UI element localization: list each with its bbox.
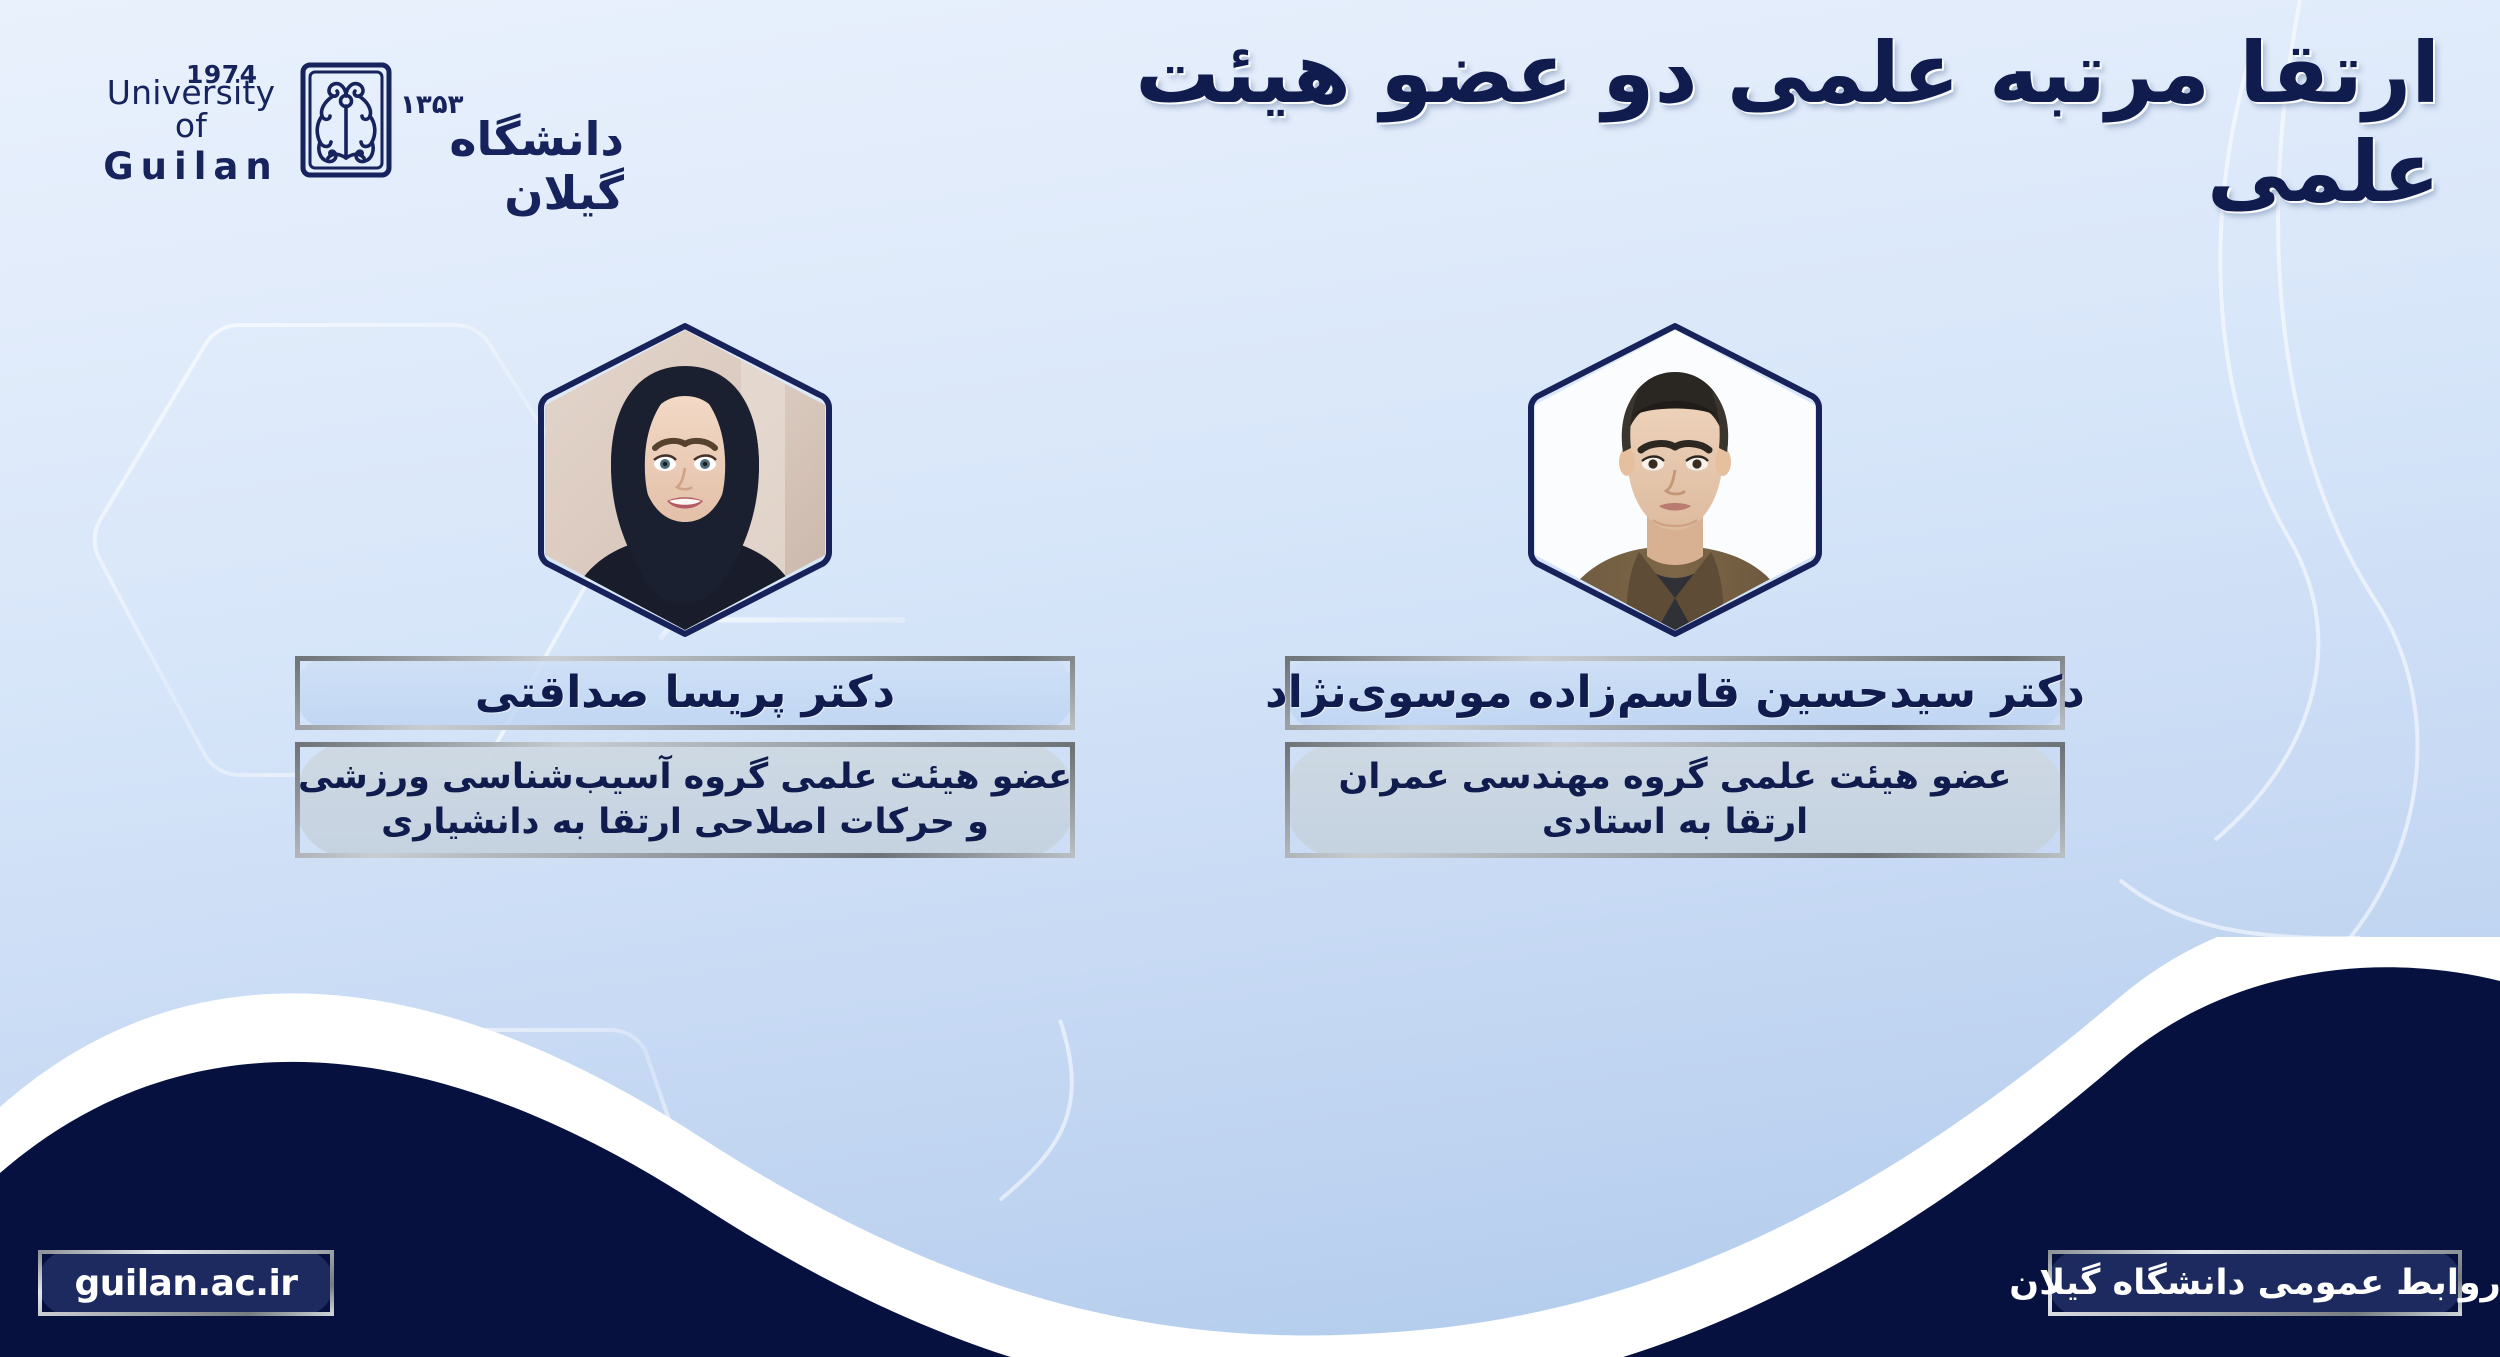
guilan-emblem-icon	[300, 62, 392, 178]
photo-hex-border-right	[1526, 321, 1824, 639]
logo-persian-name-text: دانشگاه گیلان	[449, 112, 624, 220]
person-description-left-line1: عضو هیئت علمی گروه آسیب‌شناسی ورزشی	[298, 755, 1072, 800]
website-url: guilan.ac.ir	[74, 1263, 297, 1304]
logo-english-line1: University of	[86, 76, 296, 142]
person-description-badge-right: عضو هیئت علمی گروه مهندسی عمران ارتقا به…	[1285, 742, 2065, 858]
page-title: ارتقا مرتبه علمی دو عضو هیئت علمی	[880, 24, 2440, 222]
person-name-badge-left: دکتر پریسا صداقتی	[295, 656, 1075, 730]
person-description-right-line2: ارتقا به استادی	[1542, 800, 1808, 845]
photo-hex-border-left	[536, 321, 834, 639]
public-relations-label: روابط عمومی دانشگاه گیلان	[2009, 1263, 2500, 1303]
person-description-left-line2: و حرکات اصلاحی ارتقا به دانشیاری	[381, 800, 989, 845]
logo-english-name: University of Guilan	[86, 76, 296, 185]
public-relations-pill: روابط عمومی دانشگاه گیلان	[2048, 1250, 2462, 1316]
photo-frame-left	[545, 330, 825, 630]
person-name-right: دکتر سیدحسین قاسم‌زاده موسوی‌نژاد	[1265, 671, 2085, 715]
person-card-right: دکتر سیدحسین قاسم‌زاده موسوی‌نژاد عضو هی…	[1285, 330, 2065, 858]
logo-english-line2: Guilan	[86, 148, 296, 185]
person-name-badge-right: دکتر سیدحسین قاسم‌زاده موسوی‌نژاد	[1285, 656, 2065, 730]
website-pill[interactable]: guilan.ac.ir	[38, 1250, 334, 1316]
poster-canvas: 1974 University of Guilan ۱۳	[0, 0, 2500, 1357]
photo-frame-right	[1535, 330, 1815, 630]
person-card-left: دکتر پریسا صداقتی عضو هیئت علمی گروه آسی…	[295, 330, 1075, 858]
person-name-left: دکتر پریسا صداقتی	[475, 671, 895, 715]
university-logo: 1974 University of Guilan ۱۳	[78, 38, 548, 178]
logo-persian-name: دانشگاه گیلان	[394, 60, 638, 232]
person-description-badge-left: عضو هیئت علمی گروه آسیب‌شناسی ورزشی و حر…	[295, 742, 1075, 858]
person-description-right-line1: عضو هیئت علمی گروه مهندسی عمران	[1339, 755, 2012, 800]
